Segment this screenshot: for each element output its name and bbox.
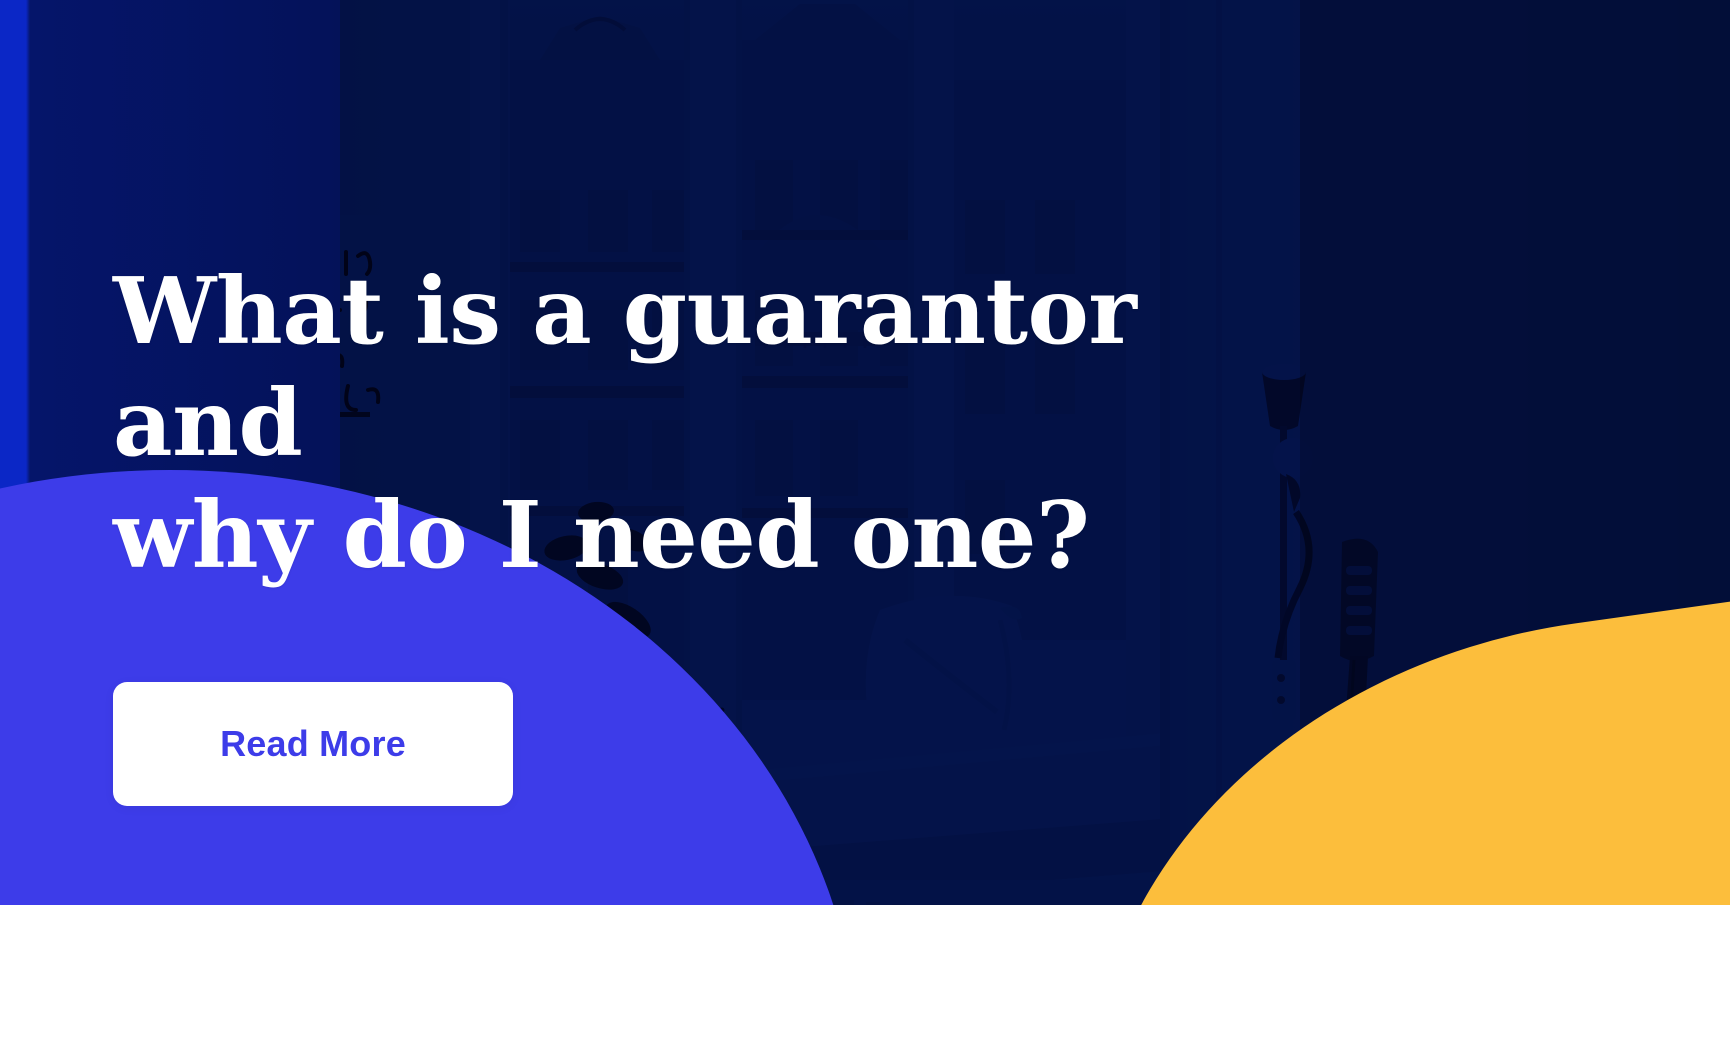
read-more-button[interactable]: Read More [113, 682, 513, 806]
page-title: What is a guarantor and why do I need on… [113, 255, 1333, 592]
hero-content: What is a guarantor and why do I need on… [0, 0, 1730, 1058]
hero-banner: What is a guarantor and why do I need on… [0, 0, 1730, 1058]
